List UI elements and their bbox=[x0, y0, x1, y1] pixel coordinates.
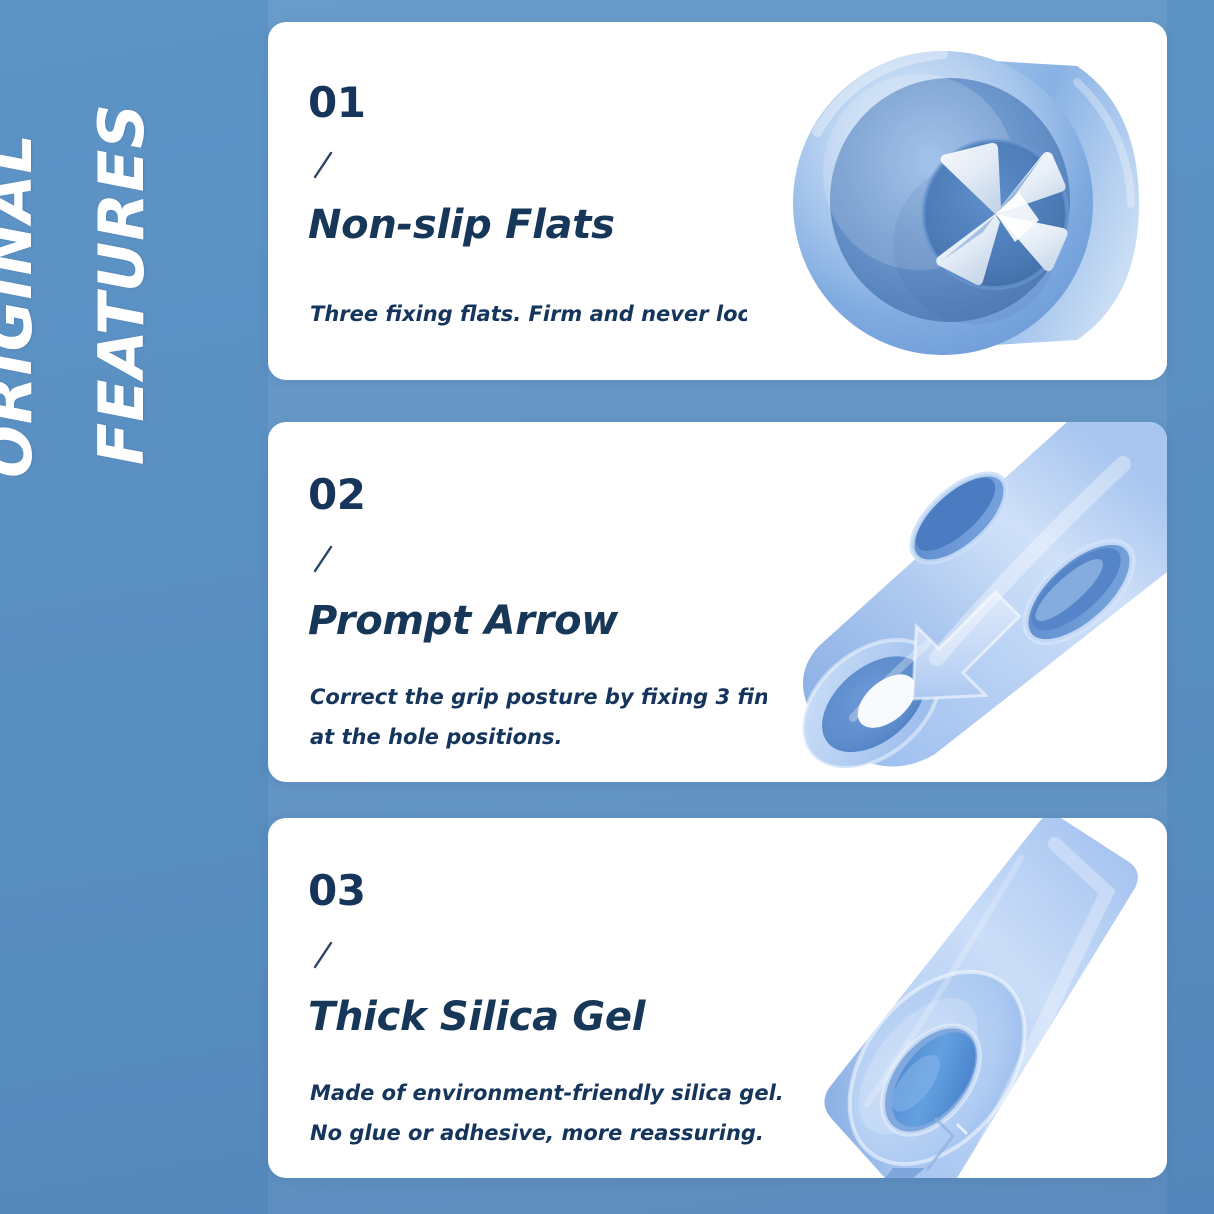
feature-card-01: 01 Non-slip Flats Three fixing flats. Fi… bbox=[268, 22, 1167, 380]
feature-body: Made of environment-friendly silica gel.… bbox=[310, 1073, 784, 1153]
heading-line-features: FEATURES bbox=[85, 103, 158, 465]
feature-number: 02 bbox=[308, 470, 365, 519]
feature-body: Correct the grip posture by fixing 3 fin… bbox=[310, 677, 821, 757]
slash-divider-icon bbox=[312, 544, 338, 574]
feature-body-line-2: at the hole positions. bbox=[310, 717, 821, 757]
feature-title: Prompt Arrow bbox=[308, 598, 618, 644]
feature-title: Non-slip Flats bbox=[308, 202, 615, 248]
heading-line-original: ORIGINAL bbox=[0, 133, 46, 478]
feature-card-03-text: 03 Thick Silica Gel Made of environment-… bbox=[308, 818, 868, 1178]
slash-divider-icon bbox=[312, 150, 338, 180]
feature-title: Thick Silica Gel bbox=[308, 994, 645, 1040]
poster-heading: ORIGINAL FEATURES bbox=[0, 0, 268, 1214]
feature-body-line-1: Correct the grip posture by fixing 3 fin… bbox=[310, 677, 821, 717]
product-image-grip-tube bbox=[767, 422, 1167, 782]
feature-number: 03 bbox=[308, 866, 365, 915]
product-image-silica-gel-sleeve bbox=[807, 818, 1167, 1178]
product-image-grip-end bbox=[747, 22, 1167, 380]
feature-body-line-1: Made of environment-friendly silica gel. bbox=[310, 1073, 784, 1113]
feature-number: 01 bbox=[308, 78, 365, 127]
feature-card-02: 02 Prompt Arrow Correct the grip posture… bbox=[268, 422, 1167, 782]
feature-poster: ORIGINAL FEATURES 01 Non-slip Flats Thre… bbox=[0, 0, 1214, 1214]
feature-body-line-2: No glue or adhesive, more reassuring. bbox=[310, 1113, 784, 1153]
feature-card-03: 03 Thick Silica Gel Made of environment-… bbox=[268, 818, 1167, 1178]
slash-divider-icon bbox=[312, 940, 338, 970]
